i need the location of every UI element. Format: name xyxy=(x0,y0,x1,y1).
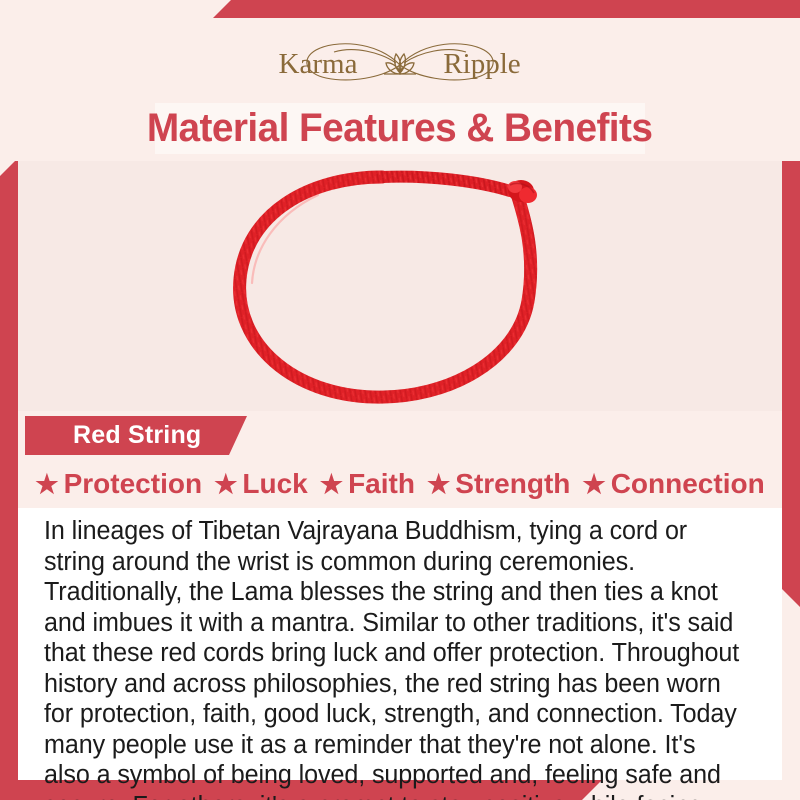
page-title: Material Features & Benefits xyxy=(147,106,653,151)
top-accent-band xyxy=(213,0,800,18)
product-image-area xyxy=(18,161,782,411)
feature-label: Luck xyxy=(242,468,307,500)
header: Karma Ripple Material Features & Benefit… xyxy=(0,18,800,161)
left-accent-band xyxy=(0,158,18,800)
brand-word-right: Ripple xyxy=(443,48,520,80)
brand-logo: Karma Ripple xyxy=(0,34,800,96)
feature-label: Protection xyxy=(64,468,202,500)
feature-label: Faith xyxy=(348,468,415,500)
brand-word-left: Karma xyxy=(279,48,358,80)
star-icon: ★ xyxy=(320,471,343,497)
description-text: In lineages of Tibetan Vajrayana Buddhis… xyxy=(44,516,747,800)
star-icon: ★ xyxy=(214,471,237,497)
star-icon: ★ xyxy=(582,471,605,497)
material-label-banner: Red String xyxy=(25,416,247,455)
material-label: Red String xyxy=(25,421,201,450)
feature-list: ★ Protection ★ Luck ★ Faith ★ Strength ★… xyxy=(18,462,782,506)
feature-item-connection: ★ Connection xyxy=(576,468,770,500)
red-string-bracelet-icon xyxy=(18,161,782,411)
infographic-page: Karma Ripple Material Features & Benefit… xyxy=(0,0,800,800)
star-icon: ★ xyxy=(35,471,58,497)
feature-label: Connection xyxy=(611,468,765,500)
lotus-icon: Karma Ripple xyxy=(250,34,550,96)
star-icon: ★ xyxy=(427,471,450,497)
feature-item-protection: ★ Protection xyxy=(29,468,208,500)
feature-item-strength: ★ Strength xyxy=(421,468,576,500)
feature-item-luck: ★ Luck xyxy=(208,468,314,500)
feature-label: Strength xyxy=(455,468,570,500)
feature-item-faith: ★ Faith xyxy=(314,468,421,500)
description-panel: In lineages of Tibetan Vajrayana Buddhis… xyxy=(18,508,782,780)
page-title-band: Material Features & Benefits xyxy=(155,103,645,154)
